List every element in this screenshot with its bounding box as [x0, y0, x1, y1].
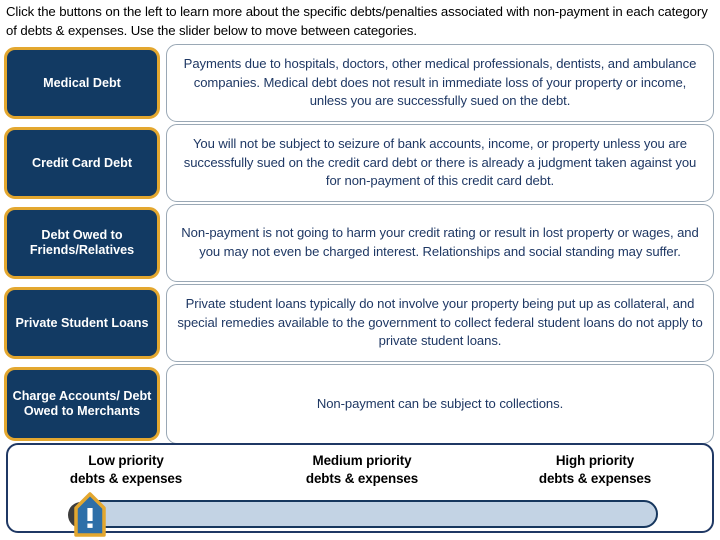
category-button-credit-card-debt[interactable]: Credit Card Debt — [4, 127, 160, 199]
category-row: Private Student Loans Private student lo… — [0, 284, 720, 362]
priority-slider-panel: Low priority debts & expenses Medium pri… — [6, 443, 714, 533]
slider-label-low-priority: Low priority debts & expenses — [16, 452, 236, 488]
slider-label-low-line1: Low priority — [88, 453, 163, 468]
description-panel-credit-card-debt: You will not be subject to seizure of ba… — [166, 124, 714, 202]
slider-control[interactable] — [8, 496, 716, 534]
category-row: Charge Accounts/ Debt Owed to Merchants … — [0, 364, 720, 444]
category-button-charge-accounts-debt-owed-to-merchants[interactable]: Charge Accounts/ Debt Owed to Merchants — [4, 367, 160, 441]
description-panel-charge-accounts-debt-owed-to-merchants: Non-payment can be subject to collection… — [166, 364, 714, 444]
description-panel-debt-owed-to-friends-relatives: Non-payment is not going to harm your cr… — [166, 204, 714, 282]
slider-label-high-line1: High priority — [556, 453, 634, 468]
slider-track[interactable] — [76, 500, 658, 528]
slider-knob-exclamation-icon[interactable] — [74, 492, 106, 538]
instruction-text: Click the buttons on the left to learn m… — [6, 2, 716, 40]
slider-label-medium-line2: debts & expenses — [252, 470, 472, 488]
slider-label-medium-line1: Medium priority — [313, 453, 412, 468]
category-row: Medical Debt Payments due to hospitals, … — [0, 44, 720, 122]
description-panel-private-student-loans: Private student loans typically do not i… — [166, 284, 714, 362]
category-button-medical-debt[interactable]: Medical Debt — [4, 47, 160, 119]
slider-label-low-line2: debts & expenses — [16, 470, 236, 488]
slider-label-high-line2: debts & expenses — [484, 470, 706, 488]
description-panel-medical-debt: Payments due to hospitals, doctors, othe… — [166, 44, 714, 122]
category-row: Credit Card Debt You will not be subject… — [0, 124, 720, 202]
slider-label-medium-priority: Medium priority debts & expenses — [252, 452, 472, 488]
category-button-private-student-loans[interactable]: Private Student Loans — [4, 287, 160, 359]
category-row: Debt Owed to Friends/Relatives Non-payme… — [0, 204, 720, 282]
slider-label-high-priority: High priority debts & expenses — [484, 452, 706, 488]
category-button-debt-owed-to-friends-relatives[interactable]: Debt Owed to Friends/Relatives — [4, 207, 160, 279]
slider-label-row: Low priority debts & expenses Medium pri… — [8, 452, 716, 494]
category-rows: Medical Debt Payments due to hospitals, … — [0, 44, 720, 446]
